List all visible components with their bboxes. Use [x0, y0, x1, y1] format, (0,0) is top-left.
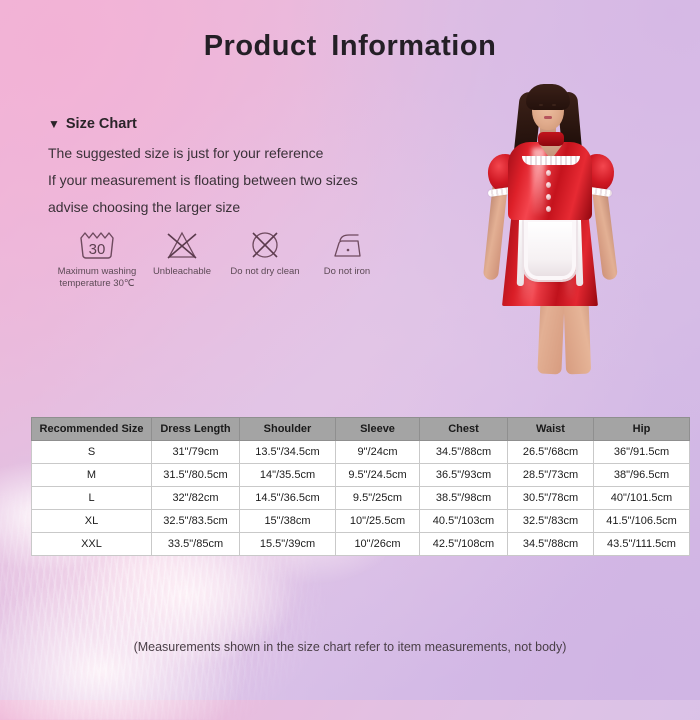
cell-shoulder: 14"/35.5cm: [240, 464, 336, 487]
model-eye-left: [539, 104, 543, 106]
cell-hip: 43.5"/111.5cm: [594, 533, 690, 556]
model-lips: [544, 116, 552, 119]
cell-waist: 28.5"/73cm: [508, 464, 594, 487]
care-instructions-row: 30 Maximum washing temperature 30℃ Unble…: [52, 228, 386, 290]
cell-sleeve: 9.5"/24.5cm: [336, 464, 420, 487]
table-header-row: Recommended Size Dress Length Shoulder S…: [32, 418, 690, 441]
model-hair-top: [526, 84, 570, 110]
cell-shoulder: 13.5"/34.5cm: [240, 441, 336, 464]
dress-button: [546, 206, 551, 212]
table-row: L 32"/82cm 14.5"/36.5cm 9.5"/25cm 38.5"/…: [32, 487, 690, 510]
cell-size: L: [32, 487, 152, 510]
dress-button: [546, 182, 551, 188]
cell-shoulder: 14.5"/36.5cm: [240, 487, 336, 510]
cell-size: XL: [32, 510, 152, 533]
size-chart-heading-label: Size Chart: [66, 116, 137, 132]
size-chart-heading: ▼ Size Chart: [48, 116, 137, 132]
care-label-bleach: Unbleachable: [153, 266, 211, 278]
table-row: M 31.5"/80.5cm 14"/35.5cm 9.5"/24.5cm 36…: [32, 464, 690, 487]
cell-sleeve: 10"/26cm: [336, 533, 420, 556]
wash-tub-30-icon: 30: [76, 228, 118, 262]
triangle-down-icon: ▼: [48, 118, 60, 130]
no-dry-clean-icon: [247, 228, 283, 262]
cell-waist: 32.5"/83cm: [508, 510, 594, 533]
cell-dress-length: 31"/79cm: [152, 441, 240, 464]
measurements-footnote: (Measurements shown in the size chart re…: [0, 640, 700, 654]
size-chart-table: Recommended Size Dress Length Shoulder S…: [31, 417, 690, 556]
cell-dress-length: 32"/82cm: [152, 487, 240, 510]
size-chart-description: The suggested size is just for your refe…: [48, 140, 358, 221]
cell-chest: 42.5"/108cm: [420, 533, 508, 556]
table-row: XXL 33.5"/85cm 15.5"/39cm 10"/26cm 42.5"…: [32, 533, 690, 556]
care-label-iron: Do not iron: [324, 266, 370, 278]
dress-apron: [524, 218, 576, 280]
care-item-iron: Do not iron: [308, 228, 386, 278]
cell-chest: 34.5"/88cm: [420, 441, 508, 464]
model-eye-right: [552, 104, 556, 106]
cell-sleeve: 9.5"/25cm: [336, 487, 420, 510]
cell-chest: 40.5"/103cm: [420, 510, 508, 533]
cell-waist: 30.5"/78cm: [508, 487, 594, 510]
cell-dress-length: 32.5"/83.5cm: [152, 510, 240, 533]
care-item-bleach: Unbleachable: [142, 228, 222, 278]
cell-dress-length: 33.5"/85cm: [152, 533, 240, 556]
cell-size: S: [32, 441, 152, 464]
care-item-dry-clean: Do not dry clean: [222, 228, 308, 278]
svg-text:30: 30: [89, 241, 106, 258]
cell-size: M: [32, 464, 152, 487]
cell-hip: 41.5"/106.5cm: [594, 510, 690, 533]
column-header-shoulder: Shoulder: [240, 418, 336, 441]
description-line-1: The suggested size is just for your refe…: [48, 140, 358, 167]
cell-chest: 36.5"/93cm: [420, 464, 508, 487]
cell-shoulder: 15.5"/39cm: [240, 533, 336, 556]
dress-collar: [538, 132, 564, 146]
cell-sleeve: 9"/24cm: [336, 441, 420, 464]
cell-dress-length: 31.5"/80.5cm: [152, 464, 240, 487]
product-photo: [466, 84, 678, 376]
cell-waist: 34.5"/88cm: [508, 533, 594, 556]
description-line-3: advise choosing the larger size: [48, 194, 358, 221]
cell-sleeve: 10"/25.5cm: [336, 510, 420, 533]
cell-chest: 38.5"/98cm: [420, 487, 508, 510]
column-header-hip: Hip: [594, 418, 690, 441]
care-label-washing: Maximum washing temperature 30℃: [58, 266, 137, 290]
column-header-dress-length: Dress Length: [152, 418, 240, 441]
cell-hip: 40"/101.5cm: [594, 487, 690, 510]
table-row: XL 32.5"/83.5cm 15"/38cm 10"/25.5cm 40.5…: [32, 510, 690, 533]
cell-shoulder: 15"/38cm: [240, 510, 336, 533]
column-header-sleeve: Sleeve: [336, 418, 420, 441]
table-row: S 31"/79cm 13.5"/34.5cm 9"/24cm 34.5"/88…: [32, 441, 690, 464]
dress-button: [546, 170, 551, 176]
column-header-waist: Waist: [508, 418, 594, 441]
dress-button: [546, 194, 551, 200]
no-bleach-icon: [163, 228, 201, 262]
no-iron-icon: [327, 228, 367, 262]
column-header-chest: Chest: [420, 418, 508, 441]
cell-hip: 38"/96.5cm: [594, 464, 690, 487]
care-item-washing: 30 Maximum washing temperature 30℃: [52, 228, 142, 290]
neckline-lace-trim: [522, 156, 580, 165]
care-label-dry-clean: Do not dry clean: [230, 266, 299, 278]
cell-hip: 36"/91.5cm: [594, 441, 690, 464]
description-line-2: If your measurement is floating between …: [48, 167, 358, 194]
cell-size: XXL: [32, 533, 152, 556]
page-title: Product Information: [0, 30, 700, 63]
size-chart-table-wrapper: Recommended Size Dress Length Shoulder S…: [31, 417, 669, 556]
column-header-recommended-size: Recommended Size: [32, 418, 152, 441]
cell-waist: 26.5"/68cm: [508, 441, 594, 464]
